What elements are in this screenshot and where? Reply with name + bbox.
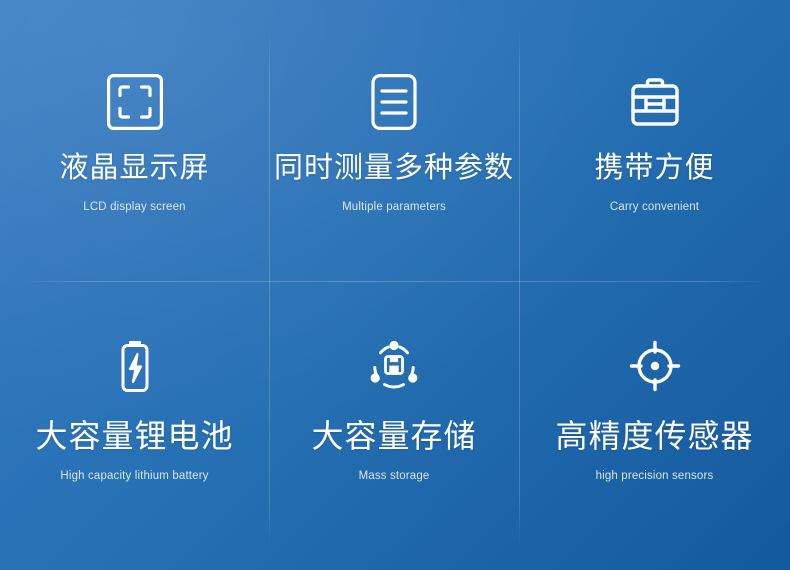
feature-title: 高精度传感器: [555, 417, 753, 455]
feature-item-precision-sensors[interactable]: 高精度传感器 high precision sensors: [519, 281, 790, 570]
feature-subtitle: LCD display screen: [83, 200, 185, 215]
feature-panel: 液晶显示屏 LCD display screen 同时测量多种参数 Multip…: [0, 0, 790, 570]
multiple-parameters-list-icon: [365, 73, 423, 131]
feature-subtitle: Mass storage: [359, 469, 430, 484]
crosshair-target-icon: [626, 337, 684, 395]
feature-item-lithium-battery[interactable]: 大容量锂电池 High capacity lithium battery: [0, 281, 269, 570]
toolbox-icon: [626, 73, 684, 131]
feature-subtitle: high precision sensors: [596, 469, 714, 484]
feature-item-multiple-parameters[interactable]: 同时测量多种参数 Multiple parameters: [269, 0, 519, 281]
feature-subtitle: Multiple parameters: [342, 200, 446, 215]
feature-grid: 液晶显示屏 LCD display screen 同时测量多种参数 Multip…: [0, 0, 790, 570]
feature-title: 同时测量多种参数: [274, 151, 514, 185]
feature-title: 大容量存储: [311, 417, 476, 455]
feature-title: 携带方便: [594, 151, 714, 185]
feature-title: 液晶显示屏: [59, 151, 209, 185]
feature-item-mass-storage[interactable]: 大容量存储 Mass storage: [269, 281, 519, 570]
feature-item-carry-convenient[interactable]: 携带方便 Carry convenient: [519, 0, 790, 281]
battery-charge-icon: [106, 337, 164, 395]
feature-item-lcd-display[interactable]: 液晶显示屏 LCD display screen: [0, 0, 269, 281]
lcd-screen-icon: [106, 73, 164, 131]
mass-storage-network-icon: [365, 337, 423, 395]
feature-subtitle: High capacity lithium battery: [60, 469, 208, 484]
feature-title: 大容量锂电池: [35, 417, 233, 455]
feature-subtitle: Carry convenient: [610, 200, 699, 215]
